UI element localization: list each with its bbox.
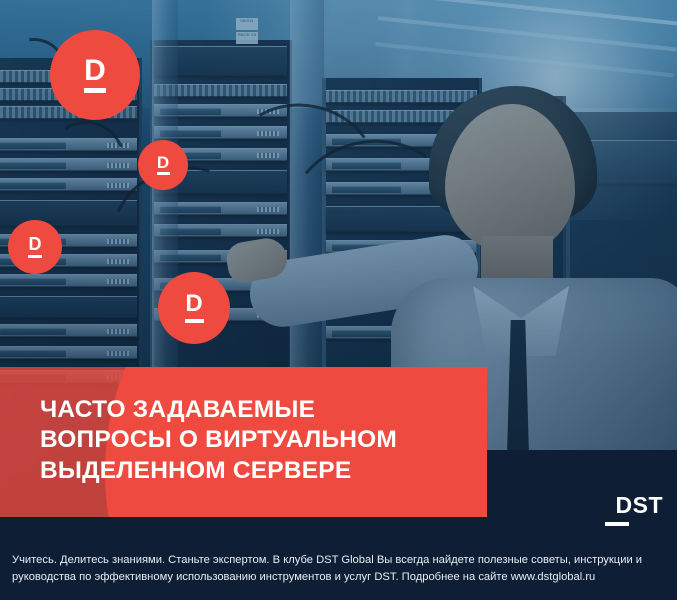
- badge-underline: [84, 88, 106, 93]
- badge-logo-d-small: D: [138, 140, 188, 190]
- badge-logo-d-left: D: [8, 220, 62, 274]
- headline-line-2: ВОПРОСЫ О ВИРТУАЛЬНОМ: [40, 425, 469, 455]
- badge-logo-d-medium: D: [158, 272, 230, 344]
- badge-underline: [185, 319, 204, 323]
- dst-logo-underline: [605, 522, 629, 526]
- badge-letter: D: [185, 293, 202, 315]
- footer-bar: DST Учитесь. Делитесь знаниями. Станьте …: [0, 517, 677, 600]
- badge-logo-d-large: D: [50, 30, 140, 120]
- headline-line-3: ВЫДЕЛЕННОМ СЕРВЕРЕ: [40, 456, 469, 486]
- badge-underline: [157, 172, 170, 175]
- headline-line-1: ЧАСТО ЗАДАВАЕМЫЕ: [40, 395, 469, 425]
- badge-underline: [28, 255, 42, 258]
- headline-banner: ЧАСТО ЗАДАВАЕМЫЕ ВОПРОСЫ О ВИРТУАЛЬНОМ В…: [0, 367, 487, 517]
- badge-letter: D: [157, 155, 169, 171]
- badge-letter: D: [84, 57, 106, 85]
- page-title: ЧАСТО ЗАДАВАЕМЫЕ ВОПРОСЫ О ВИРТУАЛЬНОМ В…: [40, 395, 469, 486]
- dst-logo: DST: [616, 492, 664, 519]
- badge-letter: D: [29, 236, 42, 253]
- footer-description: Учитесь. Делитесь знаниями. Станьте эксп…: [12, 552, 667, 587]
- poster-canvas: 00/011 RACK 03 00/011 RACK 03: [0, 0, 677, 600]
